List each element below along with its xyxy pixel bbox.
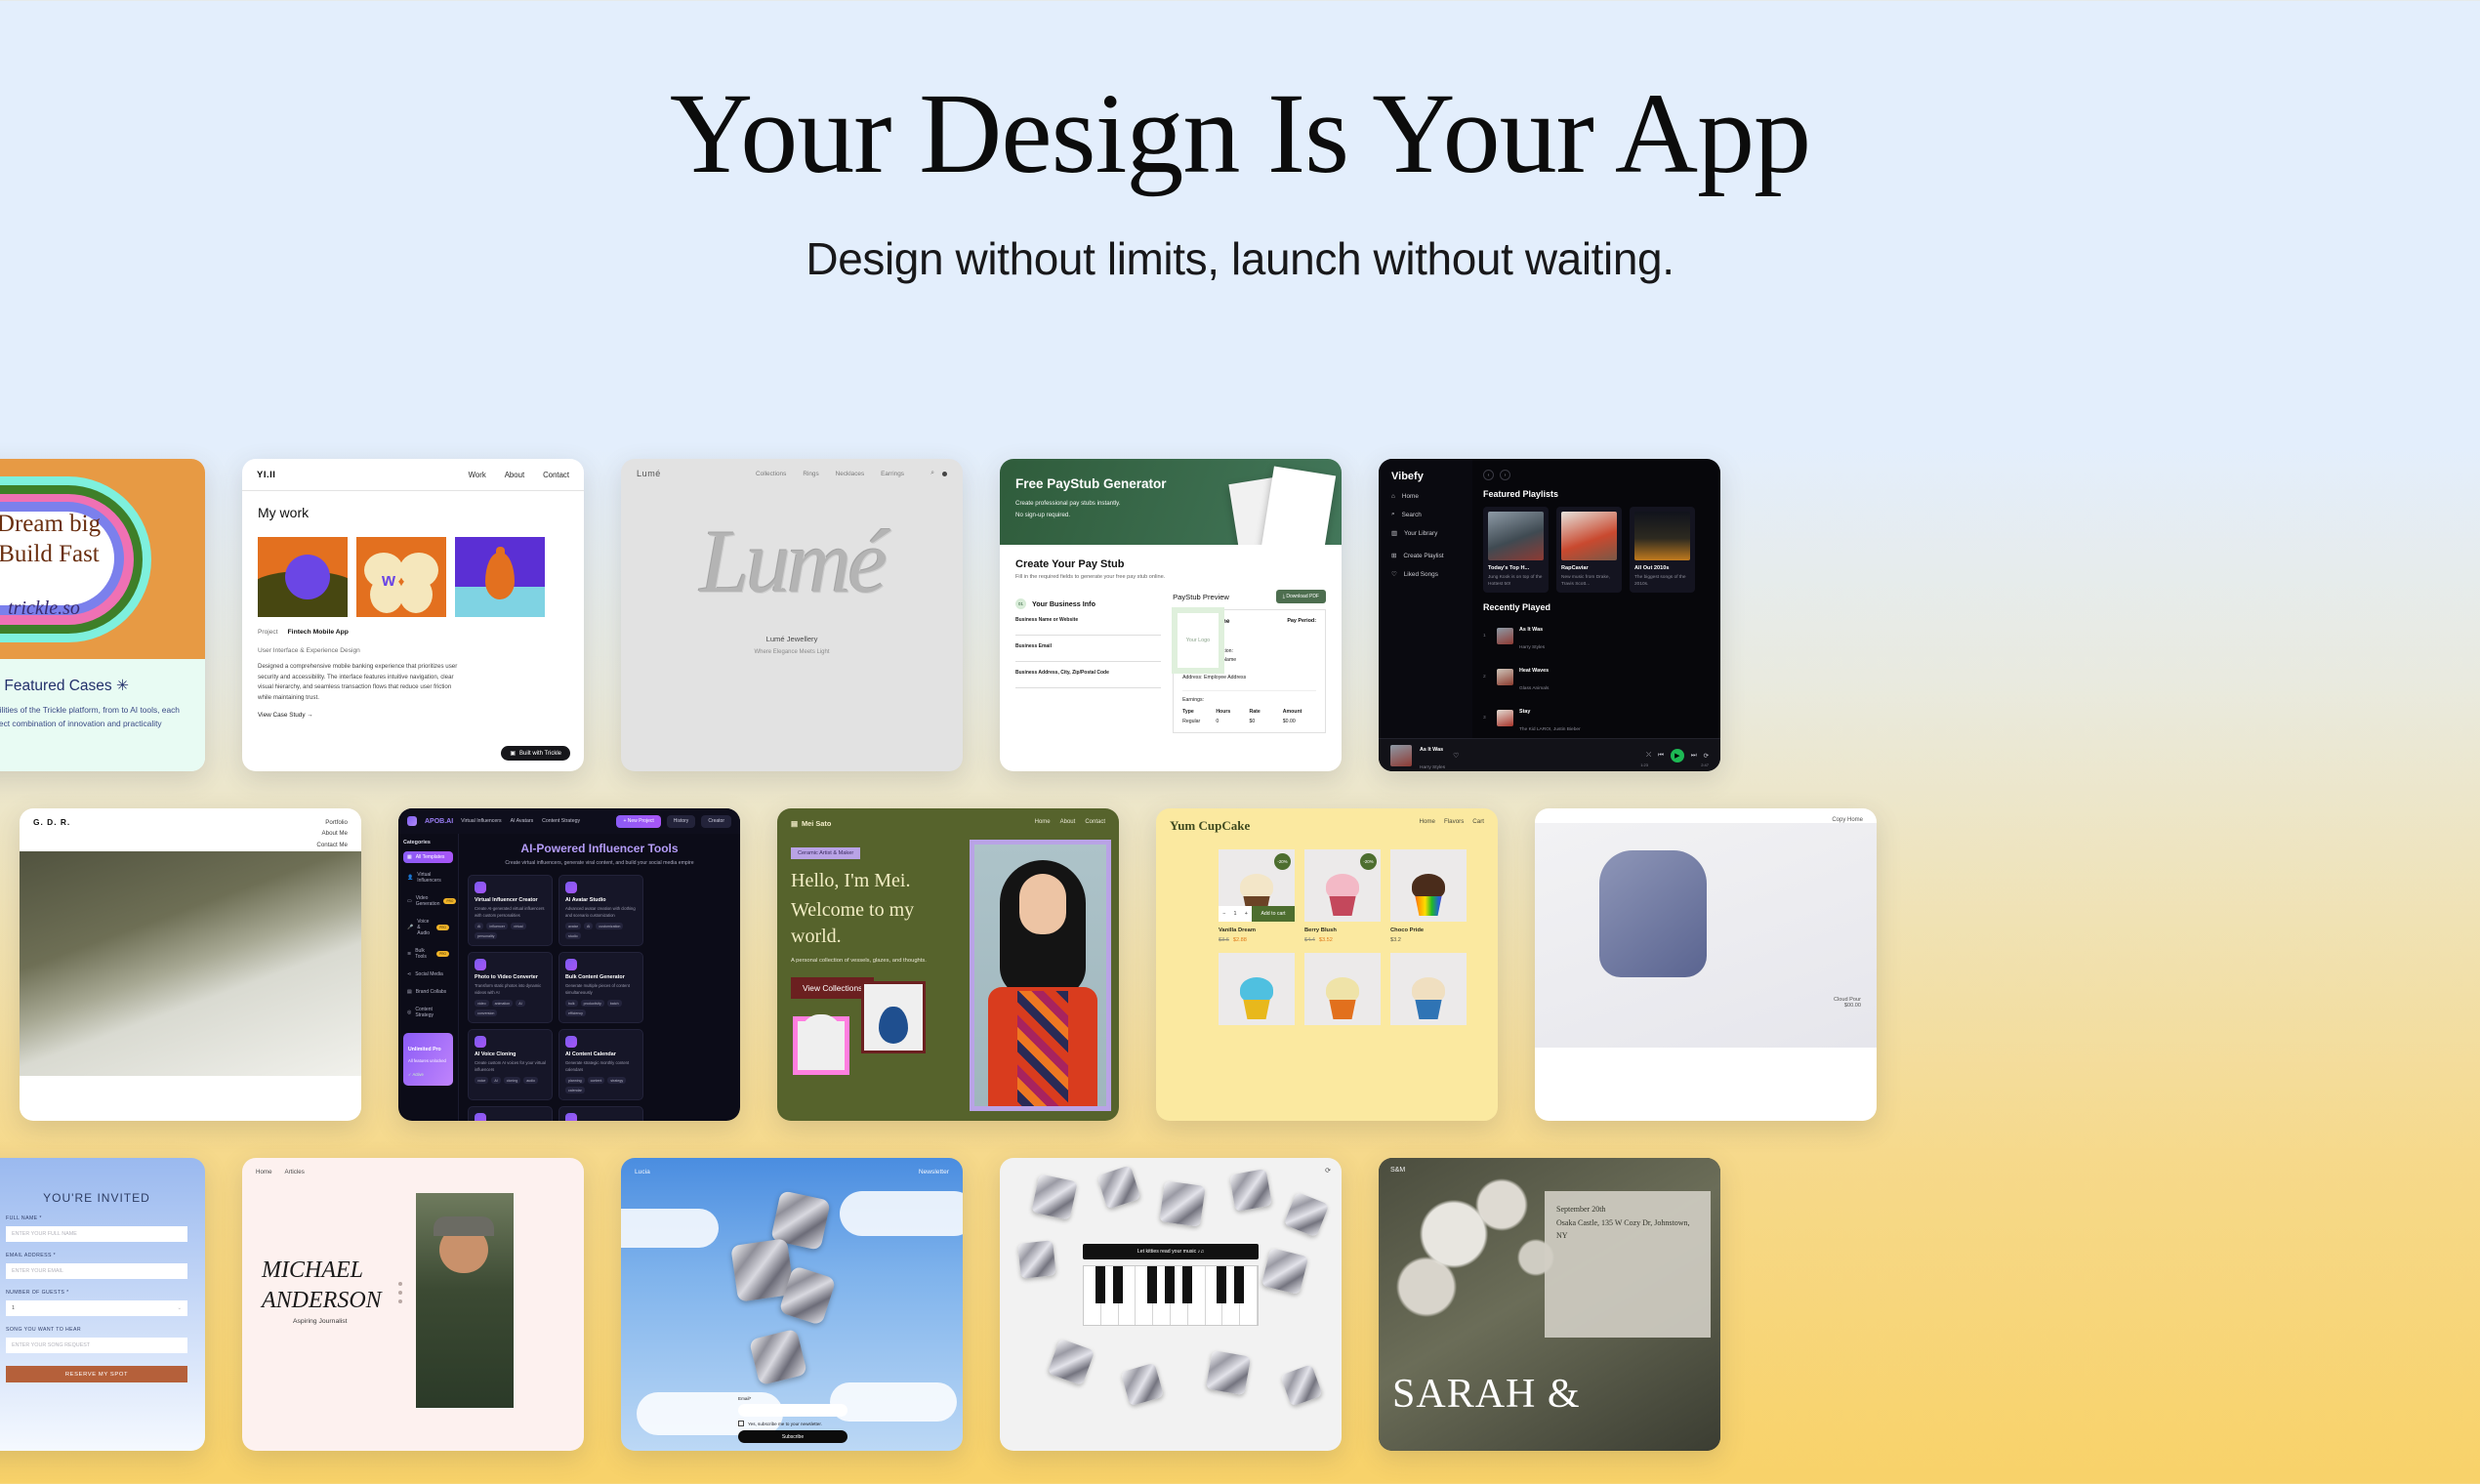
vibefy-logo[interactable]: Vibefy bbox=[1391, 471, 1472, 482]
lume-icons: ⌕ bbox=[930, 470, 947, 477]
thumbnail-vase-art[interactable] bbox=[455, 537, 545, 617]
chair-navbar: Copy Home bbox=[1535, 808, 1877, 823]
card-vibefy[interactable]: Vibefy ⌂Home ⌕Search ▥Your Library ⊞Crea… bbox=[1379, 459, 1720, 771]
plus-icon[interactable]: + bbox=[1245, 911, 1248, 917]
tool-icon bbox=[475, 959, 486, 970]
mei-intro: Ceramic Artist & Maker Hello, I'm Mei. W… bbox=[791, 842, 962, 1111]
mei-vase-gallery bbox=[791, 1007, 962, 1083]
tool-icon bbox=[475, 1113, 486, 1121]
paystub-form-column: 01 Your Business Info Business Name or W… bbox=[1015, 590, 1161, 733]
tool-icon bbox=[565, 1036, 577, 1048]
lucia-logo[interactable]: Lucia bbox=[635, 1169, 650, 1175]
pro-badge: PRO bbox=[436, 951, 449, 957]
nav-item-about[interactable]: About bbox=[505, 471, 524, 479]
product-card[interactable] bbox=[1304, 953, 1381, 1025]
featured-heading: Featured Playlists bbox=[1483, 489, 1720, 499]
subscribe-button[interactable]: Subscribe bbox=[738, 1430, 847, 1443]
nav-item-articles[interactable]: Articles bbox=[285, 1169, 305, 1175]
track-row[interactable]: 1 As It WasHarry Styles bbox=[1483, 618, 1720, 653]
nav-item-home[interactable]: Home bbox=[1035, 819, 1051, 828]
tool-card[interactable]: Viral Content IdeasGenerate trending con… bbox=[558, 1106, 643, 1121]
tool-grid: Virtual Influencer CreatorCreate AI-gene… bbox=[468, 875, 731, 1121]
tool-title: Photo to Video Converter bbox=[475, 974, 546, 980]
grid-icon: ▦ bbox=[407, 854, 412, 860]
track-number: 2 bbox=[1483, 675, 1491, 680]
nav-item-ai-avatars[interactable]: AI Avatars bbox=[511, 818, 534, 824]
nav-item-cart[interactable]: Cart bbox=[1472, 818, 1484, 834]
chair-caption: Cloud Pour $00.00 bbox=[1834, 997, 1861, 1009]
gdr-navbar: G. D. R. Portfolio About Me Contact Me bbox=[20, 808, 361, 851]
new-project-button[interactable]: + New Project bbox=[616, 815, 660, 828]
tool-desc: Generate multiple pieces of content simu… bbox=[565, 983, 637, 996]
lume-navbar: Lumé Collections Rings Necklaces Earring… bbox=[621, 459, 963, 488]
track-artist: The Kid LAROI, Justin Bieber bbox=[1519, 727, 1581, 732]
rsvp-form: YOU'RE INVITED FULL NAME * ENTER YOUR FU… bbox=[0, 1158, 205, 1382]
email-label: Email* bbox=[738, 1396, 847, 1401]
yi-project-meta: Project Fintech Mobile App bbox=[258, 629, 568, 636]
product-image bbox=[1390, 849, 1467, 922]
track-title: As It Was bbox=[1519, 627, 1543, 633]
slogan-line-2: Build Fast bbox=[0, 540, 205, 570]
page-subtitle: Design without limits, launch without wa… bbox=[0, 232, 2480, 285]
trickle-featured-block: ✳ Trickle Featured Cases ✳ showcase the … bbox=[0, 659, 205, 771]
category-all-templates[interactable]: ▦All Templates bbox=[403, 851, 453, 863]
creator-button[interactable]: Creator bbox=[701, 815, 731, 828]
yi-description: Designed a comprehensive mobile banking … bbox=[258, 662, 458, 703]
trickle-mark-icon: ▣ bbox=[510, 750, 516, 757]
field-input[interactable] bbox=[1015, 649, 1161, 662]
unlimited-title: Unlimited Pro bbox=[408, 1047, 441, 1052]
newsletter-form: Email* Yes, subscribe me to your newslet… bbox=[738, 1396, 847, 1443]
email-input[interactable]: ENTER YOUR EMAIL bbox=[6, 1263, 187, 1279]
chair-price: $00.00 bbox=[1834, 1003, 1861, 1009]
back-icon[interactable]: ‹ bbox=[1483, 470, 1494, 480]
gallery-row-2: G. D. R. Portfolio About Me Contact Me A… bbox=[0, 808, 2480, 1121]
nav-item-about[interactable]: About bbox=[1060, 819, 1076, 828]
step-number-badge: 01 bbox=[1015, 598, 1026, 609]
sidebar-item-create-playlist[interactable]: ⊞Create Playlist bbox=[1391, 552, 1472, 559]
card-mei-sato[interactable]: ▤Mei Sato Home About Contact Ceramic Art… bbox=[777, 808, 1119, 1121]
mei-navbar: ▤Mei Sato Home About Contact bbox=[777, 808, 1119, 828]
product-card[interactable]: -20% −1+ Add to cart Vanilla Dream $3.6$… bbox=[1219, 849, 1295, 943]
tool-card[interactable]: Brand Collaboration PitchCreate professi… bbox=[468, 1106, 553, 1121]
trickle-slogan: Dream big Build Fast bbox=[0, 510, 205, 569]
yi-project-sub: User Interface & Experience Design bbox=[258, 647, 568, 654]
repeat-icon[interactable]: ⟳ bbox=[1704, 752, 1709, 760]
playlist-card[interactable]: Today's Top H... Jung Kook is on top of … bbox=[1483, 507, 1549, 593]
time-total: 2:47 bbox=[1701, 763, 1709, 767]
nav-item-newsletter[interactable]: Newsletter bbox=[919, 1169, 949, 1175]
video-icon: ▭ bbox=[407, 898, 412, 904]
track-artist: Harry Styles bbox=[1519, 645, 1545, 650]
now-playing-title: As It Was bbox=[1420, 747, 1443, 753]
tool-card[interactable]: Bulk Content GeneratorGenerate multiple … bbox=[558, 952, 643, 1023]
pro-badge: PRO bbox=[436, 925, 449, 930]
home-icon: ⌂ bbox=[1391, 493, 1395, 500]
nav-item-work[interactable]: Work bbox=[469, 471, 486, 479]
nav-item-home[interactable]: Home bbox=[256, 1169, 272, 1175]
checkbox-label: Yes, subscribe me to your newsletter. bbox=[748, 1422, 822, 1426]
product-new-price: $3.2 bbox=[1390, 937, 1401, 943]
playlist-desc: Jung Kook is on top of the Hottest 50! bbox=[1488, 574, 1544, 588]
person-icon: 👤 bbox=[407, 875, 413, 881]
badge-label: Built with Trickle bbox=[519, 751, 561, 757]
sidebar-item-search[interactable]: ⌕Search bbox=[1391, 511, 1472, 518]
card-apob-ai[interactable]: APOB.AI Virtual Influencers AI Avatars C… bbox=[398, 808, 740, 1121]
placeholder-text: ENTER YOUR FULL NAME bbox=[12, 1231, 77, 1237]
wedding-details-card: September 20th Osaka Castle, 135 W Cozy … bbox=[1545, 1191, 1711, 1338]
song-request-input[interactable]: ENTER YOUR SONG REQUEST bbox=[6, 1338, 187, 1353]
yi-navbar: YI.II Work About Contact bbox=[242, 459, 584, 491]
tool-title: AI Content Calendar bbox=[565, 1051, 637, 1057]
track-row[interactable]: 2 Heat WavesGlass Animals bbox=[1483, 659, 1720, 694]
mei-portrait bbox=[974, 845, 1106, 1106]
card-yi-portfolio[interactable]: YI.II Work About Contact My work w Proje… bbox=[242, 459, 584, 771]
trickle-featured-heading: ✳ Trickle Featured Cases ✳ bbox=[0, 677, 191, 695]
nav-item-flavors[interactable]: Flavors bbox=[1444, 818, 1464, 834]
track-number: 3 bbox=[1483, 716, 1491, 721]
unlimited-pro-panel[interactable]: Unlimited Pro All features unlocked ✓ Ac… bbox=[403, 1033, 453, 1086]
unlimited-sub: All features unlocked bbox=[408, 1058, 448, 1063]
tool-icon bbox=[565, 959, 577, 970]
mei-role-pill: Ceramic Artist & Maker bbox=[791, 847, 860, 859]
trickle-hero: Dream big Build Fast trickle.so bbox=[0, 459, 205, 659]
playlist-artwork bbox=[1634, 512, 1690, 560]
apob-logo-icon bbox=[407, 816, 417, 826]
trickle-domain: trickle.so bbox=[0, 598, 166, 620]
nav-item-home[interactable]: Home bbox=[1419, 818, 1435, 834]
apob-sidebar: Categories ▦All Templates 👤Virtual Influ… bbox=[398, 834, 459, 1121]
yi-logo[interactable]: YI.II bbox=[257, 470, 275, 480]
card-michael-anderson[interactable]: Home Articles MICHAEL ANDERSON Aspiring … bbox=[242, 1158, 584, 1451]
chrome-cube-4 bbox=[749, 1329, 807, 1386]
category-virtual-influencers[interactable]: 👤Virtual Influencers bbox=[403, 869, 453, 886]
card-lume[interactable]: Lumé Collections Rings Necklaces Earring… bbox=[621, 459, 963, 771]
gdr-logo[interactable]: G. D. R. bbox=[33, 817, 70, 851]
tool-icon bbox=[475, 882, 486, 893]
now-playing-artist: Harry Styles bbox=[1420, 765, 1445, 770]
history-button[interactable]: History bbox=[667, 815, 696, 828]
cupcake-logo[interactable]: Yum CupCake bbox=[1170, 818, 1250, 834]
card-gdr[interactable]: G. D. R. Portfolio About Me Contact Me bbox=[20, 808, 361, 1121]
product-card[interactable]: Choco Pride $3.2 bbox=[1390, 849, 1467, 943]
tool-card[interactable]: AI Voice CloningCreate custom AI voices … bbox=[468, 1029, 553, 1100]
nav-item-portfolio[interactable]: Portfolio bbox=[316, 817, 348, 828]
product-grid: -20% −1+ Add to cart Vanilla Dream $3.6$… bbox=[1156, 834, 1498, 1025]
time-elapsed: 1:23 bbox=[1640, 763, 1648, 767]
chair-object bbox=[1599, 850, 1707, 977]
card-yum-cupcake[interactable]: Yum CupCake Home Flavors Cart -20% −1+ A… bbox=[1156, 808, 1498, 1121]
apob-subheading: Create virtual influencers, generate vir… bbox=[468, 860, 731, 866]
nav-item-earrings[interactable]: Earrings bbox=[881, 471, 904, 477]
nav-item-content-strategy[interactable]: Content Strategy bbox=[542, 818, 580, 824]
project-label: Project bbox=[258, 629, 278, 636]
tool-title: AI Voice Cloning bbox=[475, 1051, 546, 1057]
name-last: ANDERSON bbox=[262, 1286, 382, 1316]
field-label: EMAIL ADDRESS * bbox=[6, 1253, 187, 1258]
track-title: Heat Waves bbox=[1519, 668, 1549, 674]
yi-nav: Work About Contact bbox=[469, 471, 569, 479]
apob-heading: AI-Powered Influencer Tools bbox=[468, 842, 731, 855]
vase-thumb-blue[interactable] bbox=[861, 981, 926, 1053]
yi-body: My work w Project Fintech Mobile App Use… bbox=[242, 491, 584, 719]
playlist-title: RapCaviar bbox=[1561, 565, 1617, 571]
tool-title: AI Avatar Studio bbox=[565, 897, 637, 903]
tool-desc: Transform static photos into dynamic vid… bbox=[475, 983, 546, 996]
product-image bbox=[1390, 953, 1467, 1025]
carousel-dots[interactable] bbox=[398, 1277, 402, 1308]
piano-keyboard[interactable] bbox=[1083, 1265, 1259, 1326]
card-kitty-keys[interactable]: ⟳ Let kitties read your music ♪♫ bbox=[1000, 1158, 1342, 1451]
field-label: FULL NAME * bbox=[6, 1216, 187, 1221]
paystub-step-1: 01 Your Business Info bbox=[1015, 598, 1161, 609]
refresh-icon[interactable]: ⟳ bbox=[1325, 1167, 1331, 1175]
add-to-cart-button[interactable]: Add to cart bbox=[1252, 906, 1295, 922]
category-bulk-tools[interactable]: ≋Bulk ToolsPRO bbox=[403, 945, 453, 963]
discount-badge: -20% bbox=[1360, 853, 1377, 870]
track-artwork bbox=[1497, 628, 1513, 644]
tool-icon bbox=[565, 882, 577, 893]
apob-nav: Virtual Influencers AI Avatars Content S… bbox=[461, 818, 580, 824]
name-first: MICHAEL bbox=[262, 1256, 382, 1286]
table-row: Regular 0 $0 $0.00 bbox=[1182, 719, 1316, 724]
reserve-spot-button[interactable]: RESERVE MY SPOT bbox=[6, 1366, 187, 1382]
nav-item-contact[interactable]: Contact bbox=[1085, 819, 1105, 828]
vase-thumb-red[interactable] bbox=[793, 1016, 849, 1075]
mei-portrait-frame bbox=[970, 840, 1111, 1111]
tool-icon bbox=[475, 1036, 486, 1048]
chevron-down-icon: ⌄ bbox=[177, 1305, 182, 1311]
track-row[interactable]: 3 StayThe Kid LAROI, Justin Bieber bbox=[1483, 700, 1720, 735]
track-number: 1 bbox=[1483, 634, 1491, 639]
category-voice-audio[interactable]: 🎤Voice & AudioPRO bbox=[403, 916, 453, 939]
previous-icon[interactable]: ⏮ bbox=[1658, 752, 1664, 760]
mei-heading-1: Hello, I'm Mei. bbox=[791, 868, 962, 895]
microphone-icon: 🎤 bbox=[407, 925, 413, 930]
field-label: NUMBER OF GUESTS * bbox=[6, 1290, 187, 1296]
playlist-card[interactable]: All Out 2010s The biggest songs of the 2… bbox=[1630, 507, 1695, 593]
plus-square-icon: ⊞ bbox=[1391, 552, 1396, 559]
field-business-name[interactable]: Business Name or Website bbox=[1015, 617, 1161, 636]
briefcase-icon: ▤ bbox=[407, 989, 412, 995]
category-brand-collabs[interactable]: ▤Brand Collabs bbox=[403, 986, 453, 998]
view-case-study-link[interactable]: View Case Study → bbox=[258, 712, 568, 719]
heart-icon: ♡ bbox=[1391, 570, 1397, 578]
next-icon[interactable]: ⏭ bbox=[1691, 752, 1697, 760]
tool-card[interactable]: AI Content CalendarGenerate strategic mo… bbox=[558, 1029, 643, 1100]
recently-played-heading: Recently Played bbox=[1483, 602, 1720, 612]
nav-item-about-me[interactable]: About Me bbox=[316, 828, 348, 839]
wedding-date: September 20th bbox=[1556, 1203, 1699, 1216]
nav-item-collections[interactable]: Collections bbox=[756, 471, 786, 477]
layers-icon: ≋ bbox=[407, 951, 411, 957]
cupcake-nav: Home Flavors Cart bbox=[1419, 818, 1484, 834]
field-label: SONG YOU WANT TO HEAR bbox=[6, 1327, 187, 1333]
nav-item-virtual-influencers[interactable]: Virtual Influencers bbox=[461, 818, 501, 824]
tool-desc: Create custom AI voices for your virtual… bbox=[475, 1060, 546, 1073]
add-to-cart-bar: −1+ Add to cart bbox=[1219, 906, 1295, 922]
tool-icon bbox=[565, 1113, 577, 1121]
product-name: Berry Blush bbox=[1304, 927, 1381, 933]
playlist-artwork bbox=[1561, 512, 1617, 560]
track-title: Stay bbox=[1519, 709, 1530, 715]
tool-card[interactable]: AI Avatar StudioAdvanced avatar creation… bbox=[558, 875, 643, 946]
yi-thumbnails: w bbox=[258, 537, 568, 617]
wedding-venue: Osaka Castle, 135 W Cozy Dr, Johnstown, … bbox=[1556, 1216, 1699, 1243]
product-image: -20% −1+ Add to cart bbox=[1219, 849, 1295, 922]
lume-tagline: Where Elegance Meets Light bbox=[621, 649, 963, 655]
category-video-generation[interactable]: ▭Video GenerationPRO bbox=[403, 892, 453, 910]
preview-pay-period-label: Pay Period: bbox=[1287, 618, 1316, 625]
mei-heading-2: Welcome to my world. bbox=[791, 897, 962, 951]
cart-dot-icon[interactable] bbox=[942, 472, 947, 476]
lume-wordmark: Lumé bbox=[621, 510, 963, 613]
placeholder-text: ENTER YOUR EMAIL bbox=[12, 1268, 63, 1274]
full-name-input[interactable]: ENTER YOUR FULL NAME bbox=[6, 1226, 187, 1242]
nav-item-necklaces[interactable]: Necklaces bbox=[836, 471, 864, 477]
wedding-names: SARAH & bbox=[1392, 1371, 1581, 1418]
sidebar-item-liked-songs[interactable]: ♡Liked Songs bbox=[1391, 570, 1472, 578]
product-old-price: $4.4 bbox=[1304, 937, 1315, 943]
paystub-form-title: Create Your Pay Stub bbox=[1015, 558, 1326, 570]
trickle-featured-body: showcase the unlimited possibilities of … bbox=[0, 704, 191, 731]
hero-section: Your Design Is Your App Design without l… bbox=[0, 0, 2480, 285]
logo-placeholder-text: Your Logo bbox=[1178, 613, 1219, 668]
paystub-hero: Free PayStub Generator Create profession… bbox=[1000, 459, 1342, 545]
slogan-line-1: Dream big bbox=[0, 510, 205, 540]
step-title: Your Business Info bbox=[1032, 599, 1095, 608]
invite-heading: YOU'RE INVITED bbox=[6, 1191, 187, 1205]
tool-desc: Create AI-generated virtual influencers … bbox=[475, 906, 546, 919]
product-card[interactable]: -20% Berry Blush $4.4$3.52 bbox=[1304, 849, 1381, 943]
email-input[interactable] bbox=[738, 1404, 847, 1417]
card-paystub[interactable]: Free PayStub Generator Create profession… bbox=[1000, 459, 1342, 771]
forward-icon[interactable]: › bbox=[1500, 470, 1510, 480]
card-chair-shop[interactable]: Copy Home Cloud Pour $00.00 bbox=[1535, 808, 1877, 1121]
gallery-row-1: Dream big Build Fast trickle.so ✳ Trickl… bbox=[0, 459, 2480, 771]
now-playing-bar: As It WasHarry Styles ♡ ⤬ ⏮ ▶ ⏭ ⟳ 2:47 1… bbox=[1379, 738, 1720, 771]
product-image: -20% bbox=[1304, 849, 1381, 922]
heart-icon[interactable]: ♡ bbox=[1453, 752, 1459, 760]
nav-item-contact-me[interactable]: Contact Me bbox=[316, 840, 348, 850]
table-header-row: Type Hours Rate Amount bbox=[1182, 709, 1316, 715]
michael-portrait bbox=[416, 1193, 514, 1408]
apob-navbar: APOB.AI Virtual Influencers AI Avatars C… bbox=[398, 808, 740, 834]
paystub-body: Create Your Pay Stub Fill in the require… bbox=[1000, 545, 1342, 733]
minus-icon[interactable]: − bbox=[1222, 911, 1225, 917]
nav-item-contact[interactable]: Contact bbox=[543, 471, 569, 479]
share-icon: ⋖ bbox=[407, 971, 411, 977]
field-input[interactable] bbox=[1015, 623, 1161, 636]
cupcake-navbar: Yum CupCake Home Flavors Cart bbox=[1156, 808, 1498, 834]
sarah-logo[interactable]: S&M bbox=[1390, 1167, 1405, 1174]
thumbnail-flower-art[interactable]: w bbox=[356, 537, 446, 617]
mei-sub: A personal collection of vessels, glazes… bbox=[791, 958, 962, 964]
apob-logo[interactable]: APOB.AI bbox=[425, 818, 453, 825]
logo-upload-box[interactable]: Your Logo bbox=[1172, 607, 1224, 674]
mei-logo[interactable]: ▤Mei Sato bbox=[791, 819, 831, 828]
product-new-price: $2.88 bbox=[1233, 937, 1247, 943]
card-sarah-wedding[interactable]: S&M September 20th Osaka Castle, 135 W C… bbox=[1379, 1158, 1720, 1451]
yi-heading: My work bbox=[258, 505, 568, 520]
product-old-price: $3.6 bbox=[1219, 937, 1229, 943]
quantity-value: 1 bbox=[1233, 911, 1236, 917]
gdr-nav: Portfolio About Me Contact Me bbox=[316, 817, 348, 851]
paystub-form-sub: Fill in the required fields to generate … bbox=[1015, 574, 1326, 580]
play-icon[interactable]: ▶ bbox=[1671, 749, 1684, 763]
sidebar-item-library[interactable]: ▥Your Library bbox=[1391, 529, 1472, 537]
tool-desc: Generate strategic monthly content calen… bbox=[565, 1060, 637, 1073]
placeholder-text: ENTER YOUR SONG REQUEST bbox=[12, 1342, 90, 1348]
vibefy-sidebar: Vibefy ⌂Home ⌕Search ▥Your Library ⊞Crea… bbox=[1379, 459, 1472, 771]
lume-caption: Lumé Jewellery bbox=[621, 635, 963, 643]
category-content-strategy[interactable]: ◎Content Strategy bbox=[403, 1004, 453, 1021]
download-pdf-button[interactable]: ⤓ Download PDF bbox=[1276, 590, 1326, 603]
playlist-artwork bbox=[1488, 512, 1544, 560]
sidebar-item-home[interactable]: ⌂Home bbox=[1391, 493, 1472, 500]
field-input[interactable] bbox=[1015, 676, 1161, 688]
playlist-desc: The biggest songs of the 2010s. bbox=[1634, 574, 1690, 588]
template-gallery: Dream big Build Fast trickle.so ✳ Trickl… bbox=[0, 459, 2480, 1484]
lume-nav: Collections Rings Necklaces Earrings bbox=[756, 471, 904, 477]
apob-main: AI-Powered Influencer Tools Create virtu… bbox=[459, 834, 740, 1121]
built-with-trickle-badge[interactable]: ▣ Built with Trickle bbox=[501, 746, 570, 761]
tool-card[interactable]: Virtual Influencer CreatorCreate AI-gene… bbox=[468, 875, 553, 946]
product-new-price: $3.52 bbox=[1319, 937, 1333, 943]
michael-nav: Home Articles bbox=[242, 1158, 584, 1175]
michael-role: Aspiring Journalist bbox=[293, 1318, 348, 1325]
field-business-address[interactable]: Business Address, City, Zip/Postal Code bbox=[1015, 670, 1161, 688]
field-business-email[interactable]: Business Email bbox=[1015, 643, 1161, 662]
product-image bbox=[1219, 953, 1295, 1025]
unlimited-status: ✓ Active bbox=[408, 1072, 424, 1077]
download-label: Download PDF bbox=[1286, 594, 1319, 599]
track-artwork bbox=[1497, 669, 1513, 685]
vibefy-main: ‹ › Featured Playlists Today's Top H... … bbox=[1472, 459, 1720, 771]
lucia-navbar: Lucia Newsletter bbox=[621, 1158, 963, 1175]
checkbox-icon[interactable] bbox=[738, 1421, 744, 1426]
subscribe-checkbox-row[interactable]: Yes, subscribe me to your newsletter. bbox=[738, 1421, 847, 1426]
card-trickle[interactable]: Dream big Build Fast trickle.so ✳ Trickl… bbox=[0, 459, 205, 771]
discount-badge: -20% bbox=[1274, 853, 1291, 870]
product-card[interactable] bbox=[1390, 953, 1467, 1025]
shuffle-icon[interactable]: ⤬ bbox=[1646, 752, 1651, 760]
category-social-media[interactable]: ⋖Social Media bbox=[403, 969, 453, 980]
quantity-stepper[interactable]: −1+ bbox=[1219, 906, 1252, 922]
tool-desc: Advanced avatar creation with clothing a… bbox=[565, 906, 637, 919]
product-name: Choco Pride bbox=[1390, 927, 1467, 933]
track-artist: Glass Animals bbox=[1519, 686, 1549, 691]
search-icon[interactable]: ⌕ bbox=[930, 470, 934, 477]
product-card[interactable] bbox=[1219, 953, 1295, 1025]
search-icon: ⌕ bbox=[1391, 511, 1395, 518]
lume-logo[interactable]: Lumé bbox=[637, 469, 661, 478]
music-note-banner: Let kitties read your music ♪♫ bbox=[1083, 1244, 1259, 1259]
tool-title: Virtual Influencer Creator bbox=[475, 897, 546, 903]
playlist-card[interactable]: RapCaviar New music from Drake, Travis S… bbox=[1556, 507, 1622, 593]
card-invitation[interactable]: ing YOU'RE INVITED FULL NAME * ENTER YOU… bbox=[0, 1158, 205, 1451]
categories-label: Categories bbox=[403, 840, 453, 845]
mei-nav: Home About Contact bbox=[1035, 819, 1105, 828]
guests-select[interactable]: 1⌄ bbox=[6, 1300, 187, 1316]
card-lucia[interactable]: Lucia Newsletter Email* Yes, subscribe m… bbox=[621, 1158, 963, 1451]
thumbnail-circle-art[interactable] bbox=[258, 537, 348, 617]
playlist-title: All Out 2010s bbox=[1634, 565, 1690, 571]
nav-item-rings[interactable]: Rings bbox=[803, 471, 818, 477]
tool-card[interactable]: Photo to Video ConverterTransform static… bbox=[468, 952, 553, 1023]
track-artwork bbox=[1497, 710, 1513, 726]
page-title: Your Design Is Your App bbox=[0, 76, 2480, 191]
